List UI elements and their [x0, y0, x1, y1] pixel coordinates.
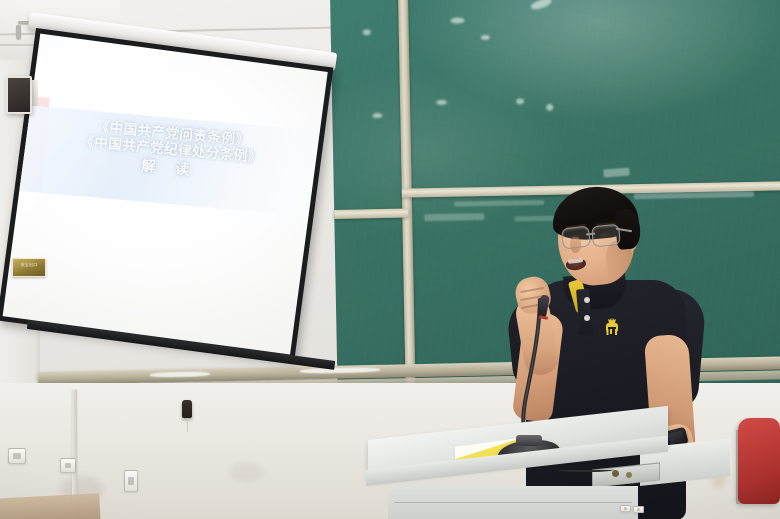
microphone-base-top	[516, 435, 542, 446]
red-chair[interactable]	[738, 418, 780, 504]
power-outlet[interactable]	[60, 458, 76, 473]
polo-button	[584, 297, 590, 303]
chalkboard-divider-horizontal-left	[334, 209, 408, 219]
wall-plaque: 安全出口	[12, 258, 46, 277]
wall-plaque-text: 安全出口	[13, 259, 45, 268]
foreground-object	[0, 493, 101, 519]
classroom-scene: 《中国共产党问责条例》 《中国共产党纪律处分条例》 解 读 安全出口	[0, 0, 780, 519]
screen-surface: 《中国共产党问责条例》 《中国共产党纪律处分条例》 解 读	[3, 34, 328, 355]
wall-speaker	[6, 76, 32, 114]
podium-vent	[633, 506, 644, 513]
podium-panel-seam	[394, 502, 632, 503]
light-switch[interactable]	[124, 470, 138, 492]
hanging-cable	[187, 418, 188, 432]
polo-button	[584, 315, 590, 321]
podium-vent	[620, 505, 631, 512]
chalk-mark	[424, 213, 484, 221]
moose-logo	[600, 315, 622, 335]
nose	[570, 237, 581, 253]
wall-smudge	[230, 462, 264, 482]
projection-screen: 《中国共产党问责条例》 《中国共产党纪律处分条例》 解 读	[0, 28, 333, 360]
screen-bracket-arm	[16, 25, 21, 39]
wall-fixture	[182, 400, 192, 418]
control-knob[interactable]	[612, 470, 619, 477]
power-outlet[interactable]	[8, 448, 26, 464]
chalk-mark	[546, 104, 553, 111]
control-knob[interactable]	[626, 472, 632, 478]
microphone-cable	[556, 466, 614, 472]
